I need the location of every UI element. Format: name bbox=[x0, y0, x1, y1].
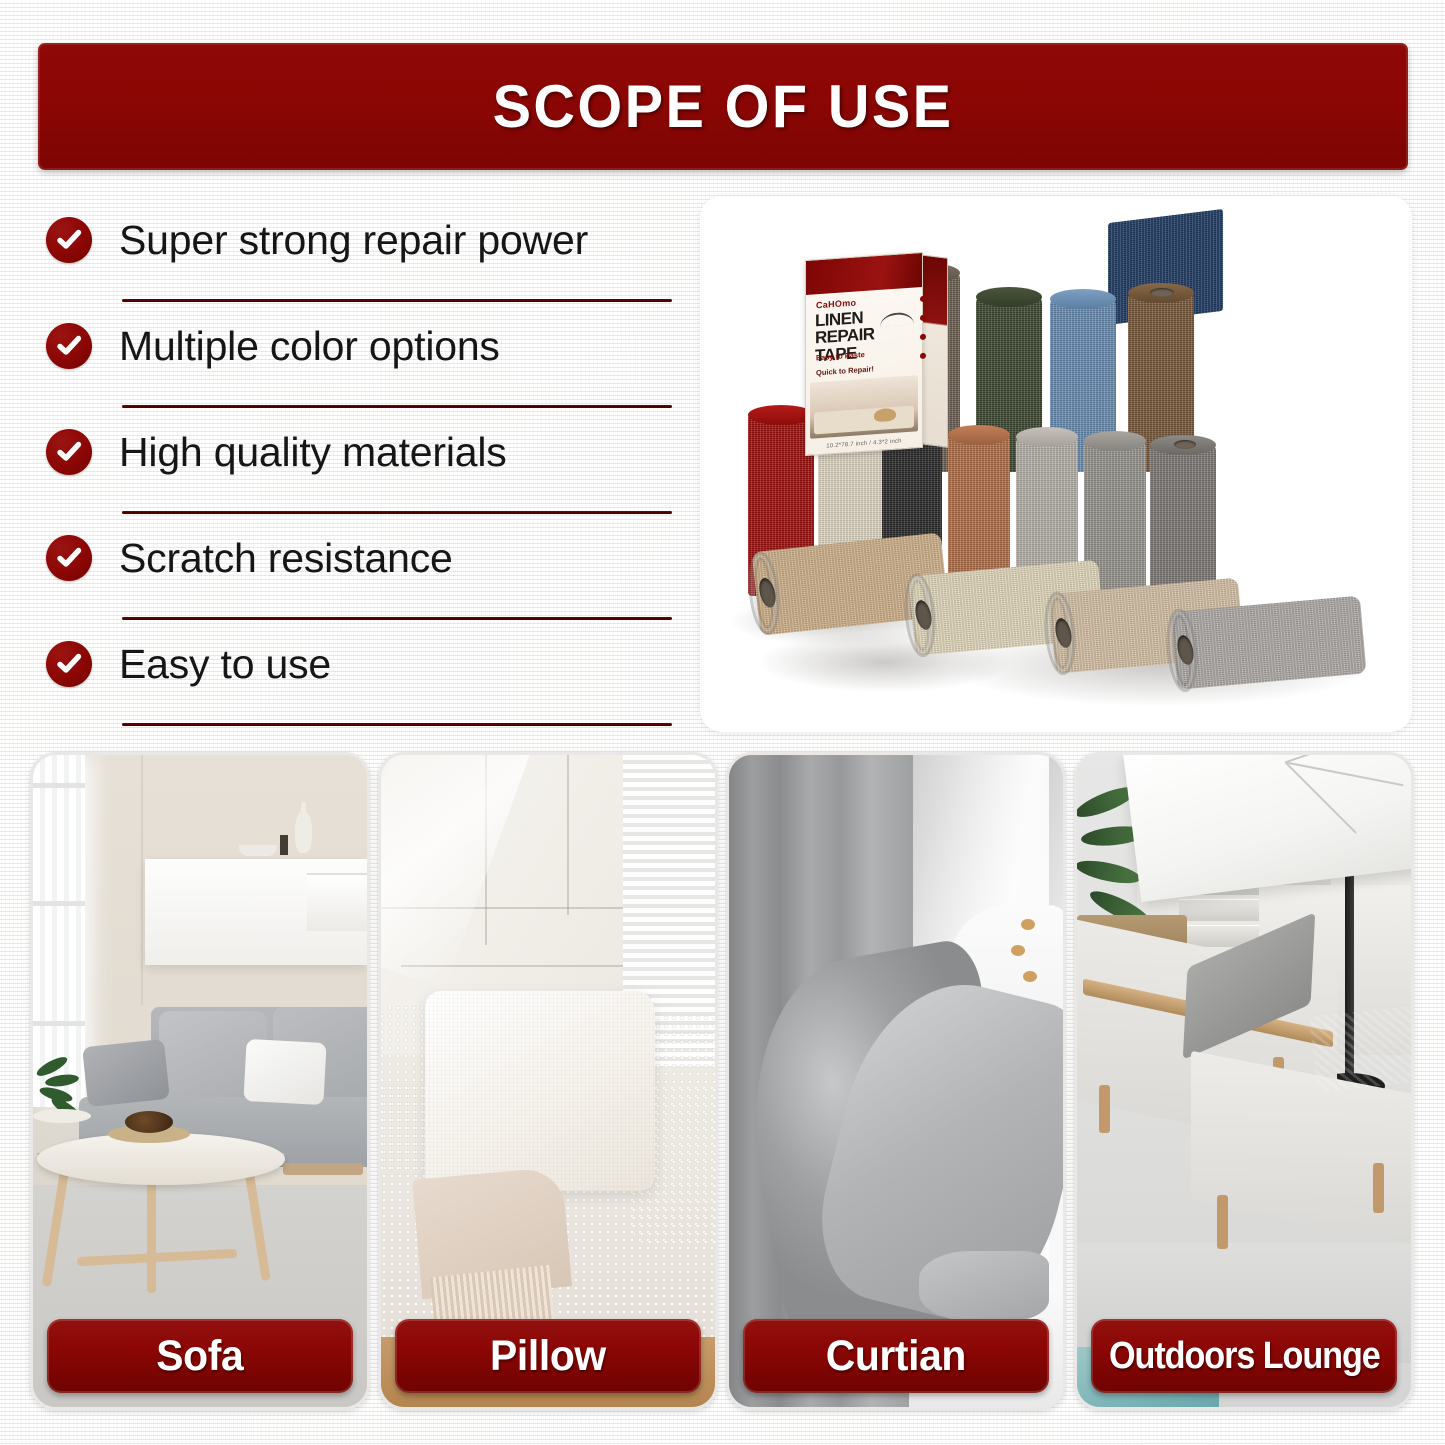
scene-label-badge: Curtian bbox=[743, 1319, 1049, 1393]
window-bar bbox=[33, 783, 85, 788]
curtain-edge bbox=[919, 1251, 1049, 1321]
roll-top bbox=[976, 287, 1042, 307]
feature-item: Super strong repair power bbox=[40, 196, 680, 302]
table-stretcher bbox=[77, 1249, 237, 1266]
side-table bbox=[33, 1109, 91, 1123]
living-room-scene bbox=[33, 755, 367, 1407]
roll-top bbox=[1050, 289, 1116, 309]
roll-core-hole bbox=[1174, 440, 1196, 449]
tape-roll-grey-lying bbox=[1171, 596, 1367, 690]
box-lifestyle-photo bbox=[810, 375, 918, 439]
scene-label: Outdoors Lounge bbox=[1109, 1335, 1380, 1378]
badge-dot bbox=[920, 296, 926, 302]
feature-item: Multiple color options bbox=[40, 302, 680, 408]
check-circle-icon bbox=[46, 323, 92, 369]
badge-dot bbox=[920, 315, 926, 321]
scene-card-pillow[interactable]: Pillow bbox=[378, 752, 718, 1410]
scene-label: Sofa bbox=[156, 1332, 243, 1381]
feature-item: Scratch resistance bbox=[40, 514, 680, 620]
box-photo-sofa bbox=[814, 406, 914, 435]
feature-list: Super strong repair power Multiple color… bbox=[40, 196, 680, 730]
decor-vase bbox=[295, 811, 312, 853]
window-bar bbox=[33, 1021, 85, 1026]
feature-label: Multiple color options bbox=[119, 323, 500, 370]
roll-top bbox=[1084, 431, 1146, 451]
wall-seam bbox=[141, 755, 143, 1005]
scene-card-curtain[interactable]: Curtian bbox=[726, 752, 1066, 1410]
box-top-band bbox=[806, 253, 922, 295]
pillow-scene bbox=[381, 755, 715, 1407]
lounger-leg bbox=[1099, 1085, 1110, 1133]
tape-rolls-arrangement: CaHOmo LINEN REPAIR TAPE Easy to Paste Q… bbox=[700, 196, 1412, 732]
leaf bbox=[44, 1073, 79, 1089]
panel-line bbox=[567, 755, 569, 915]
check-circle-icon bbox=[46, 641, 92, 687]
scene-label-badge: Sofa bbox=[47, 1319, 353, 1393]
roll-top bbox=[1016, 427, 1078, 447]
badge-dot bbox=[920, 353, 926, 359]
product-package-box: CaHOmo LINEN REPAIR TAPE Easy to Paste Q… bbox=[805, 252, 923, 456]
scene-card-sofa[interactable]: Sofa bbox=[30, 752, 370, 1410]
umbrella-rib bbox=[1285, 755, 1409, 763]
box-front-panel: CaHOmo LINEN REPAIR TAPE Easy to Paste Q… bbox=[805, 252, 923, 456]
feature-item: Easy to use bbox=[40, 620, 680, 726]
product-photo-panel: CaHOmo LINEN REPAIR TAPE Easy to Paste Q… bbox=[700, 196, 1412, 732]
scene-label: Pillow bbox=[490, 1332, 606, 1381]
scene-card-outdoors-lounge[interactable]: Outdoors Lounge bbox=[1074, 752, 1414, 1410]
flower-bud bbox=[1023, 971, 1037, 982]
box-feature-badges bbox=[920, 295, 942, 373]
curtain-scene bbox=[729, 755, 1063, 1407]
woven-cushion bbox=[1309, 1006, 1411, 1093]
scene-label-badge: Pillow bbox=[395, 1319, 701, 1393]
box-size-text: 10.2*78.7 inch / 4.3*2 inch bbox=[806, 437, 922, 451]
decor-book bbox=[280, 835, 288, 855]
feature-label: Easy to use bbox=[119, 641, 331, 688]
check-circle-icon bbox=[46, 429, 92, 475]
decor-bowl bbox=[239, 845, 277, 856]
decor-pinecone bbox=[125, 1111, 173, 1133]
umbrella-rib bbox=[1285, 761, 1403, 786]
feature-label: High quality materials bbox=[119, 429, 507, 476]
pillow-texture bbox=[425, 991, 655, 1191]
scene-label-badge: Outdoors Lounge bbox=[1091, 1319, 1397, 1393]
lounger-leg bbox=[1217, 1195, 1228, 1249]
feature-label: Super strong repair power bbox=[119, 217, 588, 264]
flower-bud bbox=[1011, 945, 1025, 956]
cream-pillow bbox=[425, 991, 655, 1191]
outdoor-lounge-scene bbox=[1077, 755, 1411, 1407]
window-bar bbox=[33, 901, 85, 906]
flower-bud bbox=[1021, 919, 1035, 930]
feature-item: High quality materials bbox=[40, 408, 680, 514]
leaf bbox=[1077, 856, 1142, 887]
coffee-table-legs bbox=[51, 1169, 265, 1299]
wall-shelf bbox=[307, 873, 367, 931]
header-banner: SCOPE OF USE bbox=[38, 43, 1408, 170]
table-leg bbox=[147, 1169, 156, 1293]
page-title: SCOPE OF USE bbox=[493, 72, 954, 141]
box-subtitle-2: Quick to Repair! bbox=[816, 364, 874, 377]
lounger-leg bbox=[1373, 1163, 1384, 1213]
scene-card-row: Sofa Pillow bbox=[30, 752, 1415, 1412]
feature-label: Scratch resistance bbox=[119, 535, 453, 582]
roll-top bbox=[948, 425, 1010, 445]
roll-core-hole bbox=[1150, 288, 1174, 297]
white-throw-pillow bbox=[243, 1039, 326, 1105]
feature-divider bbox=[122, 723, 672, 726]
badge-dot bbox=[920, 334, 926, 340]
scene-label: Curtian bbox=[826, 1332, 966, 1381]
check-circle-icon bbox=[46, 535, 92, 581]
sofa-base bbox=[283, 1163, 363, 1175]
check-circle-icon bbox=[46, 217, 92, 263]
tape-roll-dark-grey bbox=[1150, 444, 1216, 596]
